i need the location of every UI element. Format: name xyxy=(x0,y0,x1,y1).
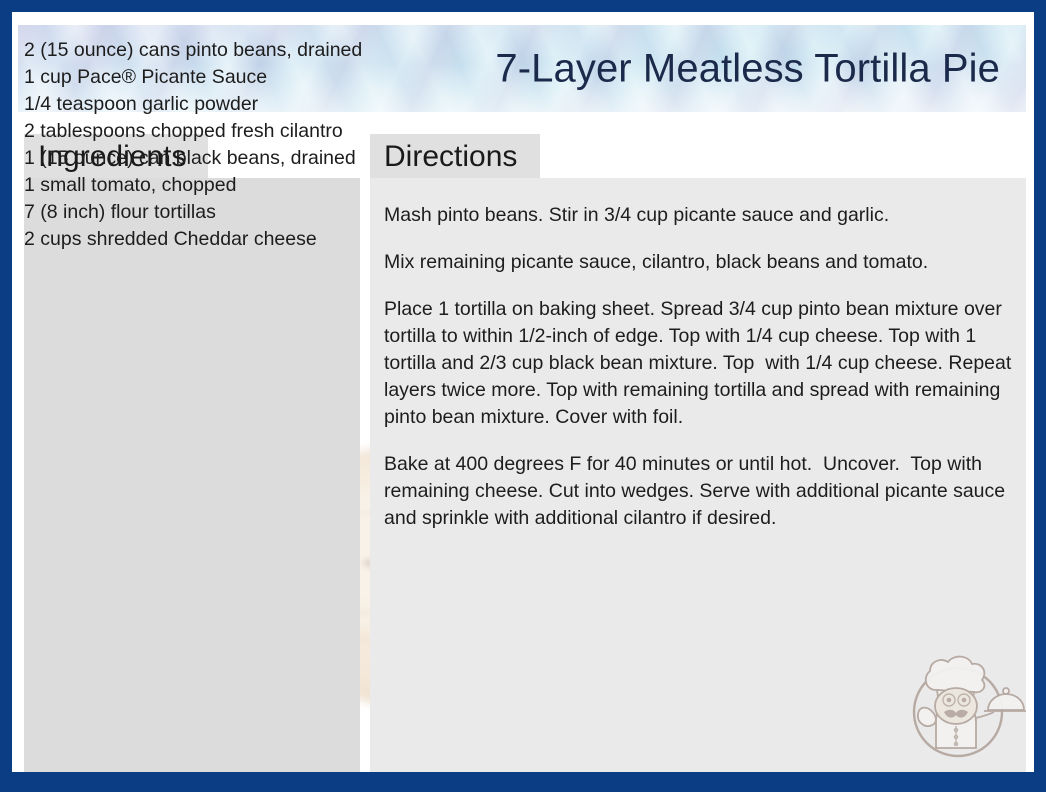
ingredients-panel xyxy=(24,178,360,772)
slide-content-area: 7-Layer Meatless Tortilla Pie xyxy=(12,12,1034,772)
list-item: 1/4 teaspoon garlic powder xyxy=(24,91,1028,118)
list-item: 2 (15 ounce) cans pinto beans, drained xyxy=(24,37,1028,64)
recipe-slide: 7-Layer Meatless Tortilla Pie xyxy=(0,0,1046,792)
direction-step: Mash pinto beans. Stir in 3/4 cup picant… xyxy=(384,202,1020,229)
list-item: 2 tablespoons chopped fresh cilantro xyxy=(24,118,1028,145)
directions-body: Mash pinto beans. Stir in 3/4 cup picant… xyxy=(384,188,1020,532)
list-item: 1 cup Pace® Picante Sauce xyxy=(24,64,1028,91)
direction-step: Bake at 400 degrees F for 40 minutes or … xyxy=(384,451,1020,532)
list-item: 1 (15 ounce) can black beans, drained xyxy=(24,145,1028,172)
direction-step: Mix remaining picante sauce, cilantro, b… xyxy=(384,249,1020,276)
direction-step: Place 1 tortilla on baking sheet. Spread… xyxy=(384,296,1020,431)
